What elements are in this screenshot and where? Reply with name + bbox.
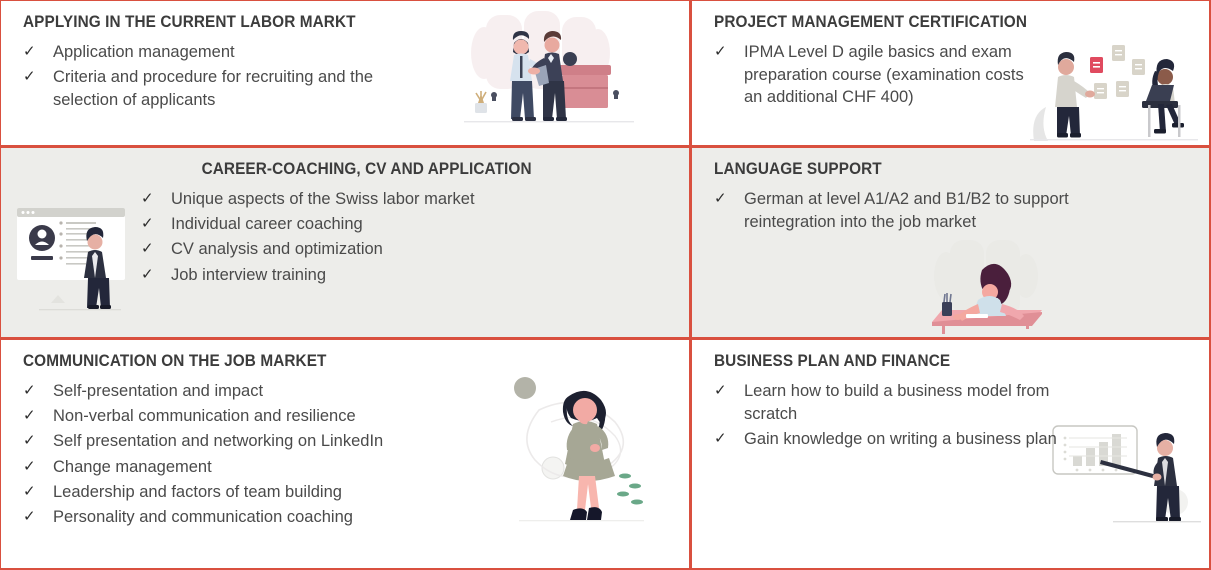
list-item: ✓ Leadership and factors of team buildin… [23, 481, 673, 504]
list-item-label: Personality and communication coaching [53, 506, 673, 529]
woman-writing-illustration [920, 240, 1080, 339]
list-item-label: Criteria and procedure for recruiting an… [53, 66, 413, 112]
list-item-label: Non-verbal communication and resilience [53, 405, 673, 428]
list-item: ✓ Criteria and procedure for recruiting … [23, 66, 673, 112]
list-item-label: Individual career coaching [171, 213, 673, 236]
card-title: LANGUAGE SUPPORT [714, 160, 1159, 180]
list-item: ✓ Change management [23, 456, 673, 479]
list-item: ✓ Application management [23, 41, 673, 64]
list-item: ✓ Job interview training [141, 264, 673, 287]
list-item-label: Change management [53, 456, 673, 479]
bullet-list: ✓ Learn how to build a business model fr… [714, 380, 1193, 451]
list-item-label: German at level A1/A2 and B1/B2 to suppo… [744, 188, 1164, 234]
check-icon: ✓ [141, 264, 171, 286]
check-icon: ✓ [714, 41, 744, 63]
list-item: ✓ Learn how to build a business model fr… [714, 380, 1193, 426]
bullet-list: ✓ Unique aspects of the Swiss labor mark… [23, 188, 673, 287]
list-item: ✓ CV analysis and optimization [141, 238, 673, 261]
card-language-support: LANGUAGE SUPPORT ✓ German at level A1/A2… [690, 146, 1211, 339]
bullet-list: ✓ Application management ✓ Criteria and … [23, 41, 673, 112]
bullet-list: ✓ Self-presentation and impact ✓ Non-ver… [23, 380, 673, 529]
bullet-list: ✓ German at level A1/A2 and B1/B2 to sup… [714, 188, 1193, 234]
check-icon: ✓ [23, 506, 53, 528]
check-icon: ✓ [23, 380, 53, 402]
card-title: APPLYING IN THE CURRENT LABOR MARKT [23, 13, 628, 33]
check-icon: ✓ [23, 405, 53, 427]
list-item: ✓ Individual career coaching [141, 213, 673, 236]
card-title: PROJECT MANAGEMENT CERTIFICATION [714, 13, 1159, 33]
check-icon: ✓ [23, 430, 53, 452]
list-item: ✓ German at level A1/A2 and B1/B2 to sup… [714, 188, 1193, 234]
bullet-list: ✓ IPMA Level D agile basics and exam pre… [714, 41, 1193, 109]
list-item-label: Self-presentation and impact [53, 380, 673, 403]
card-title: BUSINESS PLAN AND FINANCE [714, 352, 1159, 372]
check-icon: ✓ [23, 66, 53, 88]
check-icon: ✓ [714, 428, 744, 450]
benefits-grid: APPLYING IN THE CURRENT LABOR MARKT ✓ Ap… [0, 0, 1211, 570]
list-item-label: Job interview training [171, 264, 673, 287]
list-item-label: Leadership and factors of team building [53, 481, 673, 504]
check-icon: ✓ [714, 380, 744, 402]
list-item-label: Learn how to build a business model from… [744, 380, 1089, 426]
card-applying-labor-market: APPLYING IN THE CURRENT LABOR MARKT ✓ Ap… [0, 0, 691, 147]
list-item: ✓ Self-presentation and impact [23, 380, 673, 403]
check-icon: ✓ [23, 41, 53, 63]
list-item-label: Application management [53, 41, 413, 64]
card-title: COMMUNICATION ON THE JOB MARKET [23, 352, 628, 372]
list-item-label: Unique aspects of the Swiss labor market [171, 188, 673, 211]
list-item-label: IPMA Level D agile basics and exam prepa… [744, 41, 1044, 109]
check-icon: ✓ [141, 213, 171, 235]
card-career-coaching: CAREER-COACHING, CV AND APPLICATION ✓ Un… [0, 146, 691, 339]
card-project-management-certification: PROJECT MANAGEMENT CERTIFICATION ✓ IPMA … [690, 0, 1211, 147]
list-item: ✓ Self presentation and networking on Li… [23, 430, 673, 453]
list-item: ✓ IPMA Level D agile basics and exam pre… [714, 41, 1193, 109]
list-item: ✓ Unique aspects of the Swiss labor mark… [141, 188, 673, 211]
check-icon: ✓ [141, 238, 171, 260]
list-item: ✓ Personality and communication coaching [23, 506, 673, 529]
list-item-label: Gain knowledge on writing a business pla… [744, 428, 1089, 451]
list-item-label: CV analysis and optimization [171, 238, 673, 261]
check-icon: ✓ [23, 456, 53, 478]
card-title: CAREER-COACHING, CV AND APPLICATION [46, 160, 651, 180]
list-item-label: Self presentation and networking on Link… [53, 430, 673, 453]
check-icon: ✓ [141, 188, 171, 210]
card-business-plan-finance: BUSINESS PLAN AND FINANCE ✓ Learn how to… [690, 338, 1211, 570]
list-item: ✓ Non-verbal communication and resilienc… [23, 405, 673, 428]
check-icon: ✓ [23, 481, 53, 503]
card-communication-job-market: COMMUNICATION ON THE JOB MARKET ✓ Self-p… [0, 338, 691, 570]
list-item: ✓ Gain knowledge on writing a business p… [714, 428, 1193, 451]
check-icon: ✓ [714, 188, 744, 210]
